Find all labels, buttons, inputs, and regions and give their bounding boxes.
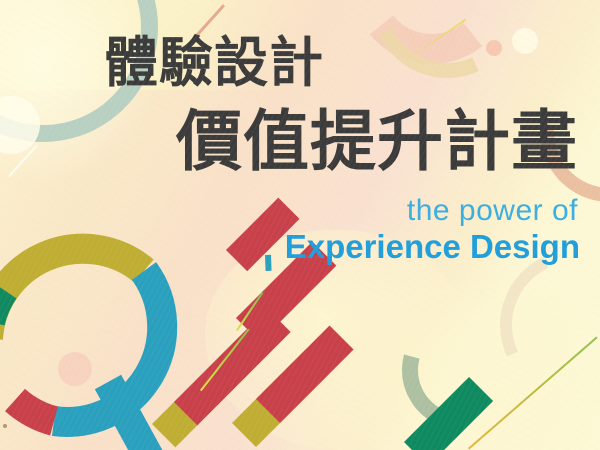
- experience-design-poster: 體驗設計 價值提升計畫 the power of Experience Desi…: [0, 0, 600, 450]
- poster-text-layer: 體驗設計 價值提升計畫 the power of Experience Desi…: [0, 0, 600, 450]
- headline-line-1: 體驗設計: [104, 36, 324, 90]
- subheadline-line-1: the power of: [407, 196, 578, 226]
- headline-line-2: 價值提升計畫: [176, 108, 578, 174]
- subheadline-line-2: Experience Design: [285, 230, 580, 263]
